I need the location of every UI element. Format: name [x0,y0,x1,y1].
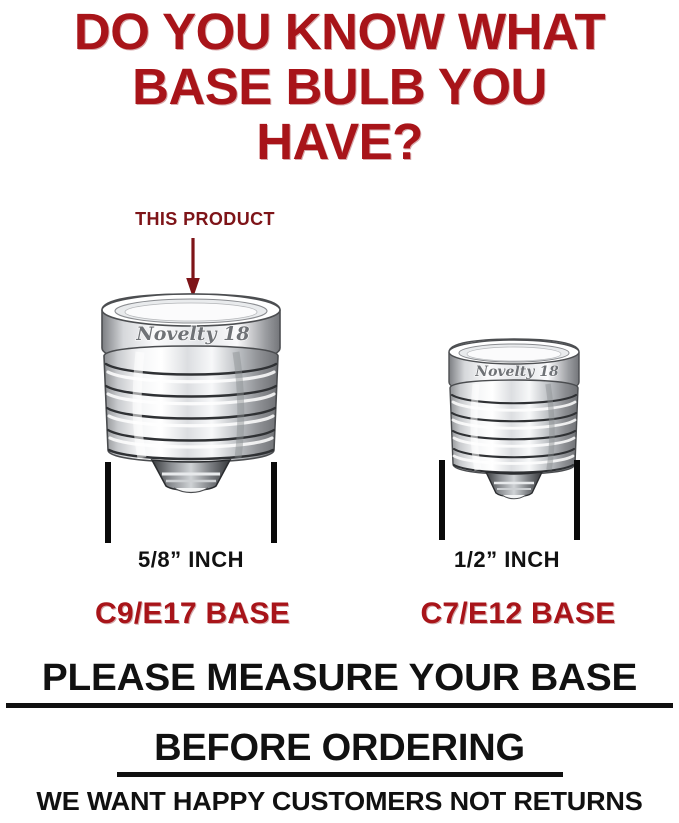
headline-line-3: HAVE? [0,114,679,169]
headline-line-2: BASE BULB YOU [0,59,679,114]
this-product-label: THIS PRODUCT [110,209,300,230]
bulb-base-infographic: DO YOU KNOW WHAT BASE BULB YOU HAVE? THI… [0,0,679,823]
headline-line-1: DO YOU KNOW WHAT [0,4,679,59]
base-name-c9: C9/E17 BASE [50,597,335,631]
footer-measure-text: PLEASE MEASURE YOUR BASE [0,657,679,700]
measurement-label-c9: 5/8” INCH [96,547,286,573]
measure-bar-left-c9 [105,462,111,543]
footer-underline-2 [117,772,563,777]
measurement-label-c7: 1/2” INCH [432,547,582,573]
bulb-illustration-large: Novelty 18 [96,290,286,495]
measure-bar-right-c7 [574,460,580,540]
base-name-c7: C7/E12 BASE [378,597,658,631]
footer-underline-1 [6,703,673,708]
footer-before-text: BEFORE ORDERING [0,727,679,770]
bulb-illustration-small: Novelty 18 [444,336,584,504]
bulb-base-c7-e12: Novelty 18 [444,336,584,504]
embossed-brand-large: Novelty 18 [135,323,249,345]
down-arrow-icon [185,238,201,298]
footer-happy-text: WE WANT HAPPY CUSTOMERS NOT RETURNS [0,786,679,817]
page-title: DO YOU KNOW WHAT BASE BULB YOU HAVE? [0,4,679,169]
embossed-brand-small: Novelty 18 [474,364,559,380]
measure-bar-left-c7 [439,460,445,540]
measure-bar-right-c9 [271,462,277,543]
bulb-base-c9-e17: Novelty 18 [96,290,286,495]
